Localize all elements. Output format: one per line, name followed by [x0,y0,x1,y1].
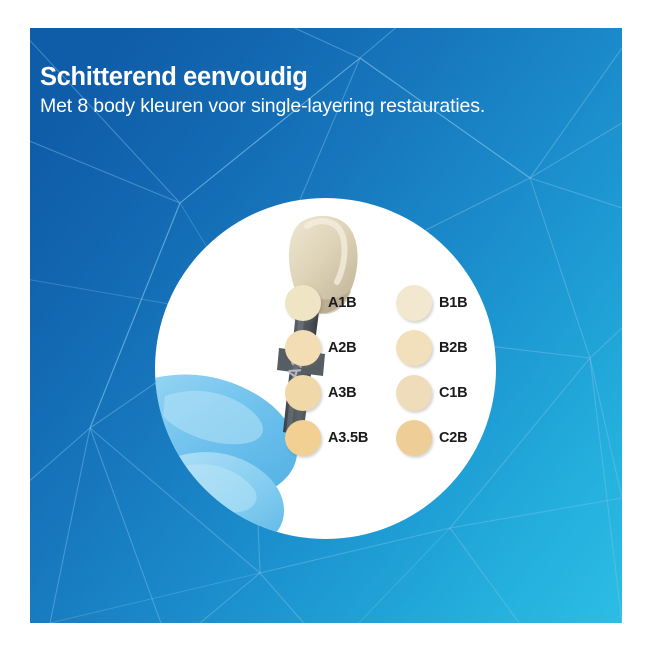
shade-label: C1B [439,385,467,401]
swatch-item[interactable]: A3.5B [285,415,389,460]
shade-disc [285,285,321,321]
shade-label: A3B [328,385,356,401]
swatch-item[interactable]: B2B [396,325,496,370]
swatch-item[interactable]: C2B [396,415,496,460]
shade-label: B2B [439,340,467,356]
white-circle-backdrop: A2 A1B B1B [155,198,496,539]
shade-disc [285,375,321,411]
headline-subtitle: Met 8 body kleuren voor single-layering … [40,94,510,119]
shade-disc [396,285,432,321]
product-circle: A2 A1B B1B [155,198,496,539]
shade-label: A2B [328,340,356,356]
swatch-item[interactable]: A2B [285,325,389,370]
shade-label: A1B [328,295,356,311]
promo-graphic: Schitterend eenvoudig Met 8 body kleuren… [0,0,650,650]
headline-block: Schitterend eenvoudig Met 8 body kleuren… [40,62,510,119]
swatch-item[interactable]: A3B [285,370,389,415]
swatch-item[interactable]: C1B [396,370,496,415]
gloved-hand [155,375,297,539]
shade-disc [285,330,321,366]
shade-disc [285,420,321,456]
swatch-item[interactable]: A1B [285,280,389,325]
shade-disc [396,420,432,456]
shade-label: B1B [439,295,467,311]
shade-label: C2B [439,430,467,446]
shade-swatch-grid: A1B B1B A2B B2B A3B [285,280,496,460]
shade-label: A3.5B [328,430,368,446]
shade-disc [396,375,432,411]
swatch-item[interactable]: B1B [396,280,496,325]
shade-disc [396,330,432,366]
headline-title: Schitterend eenvoudig [40,62,510,92]
